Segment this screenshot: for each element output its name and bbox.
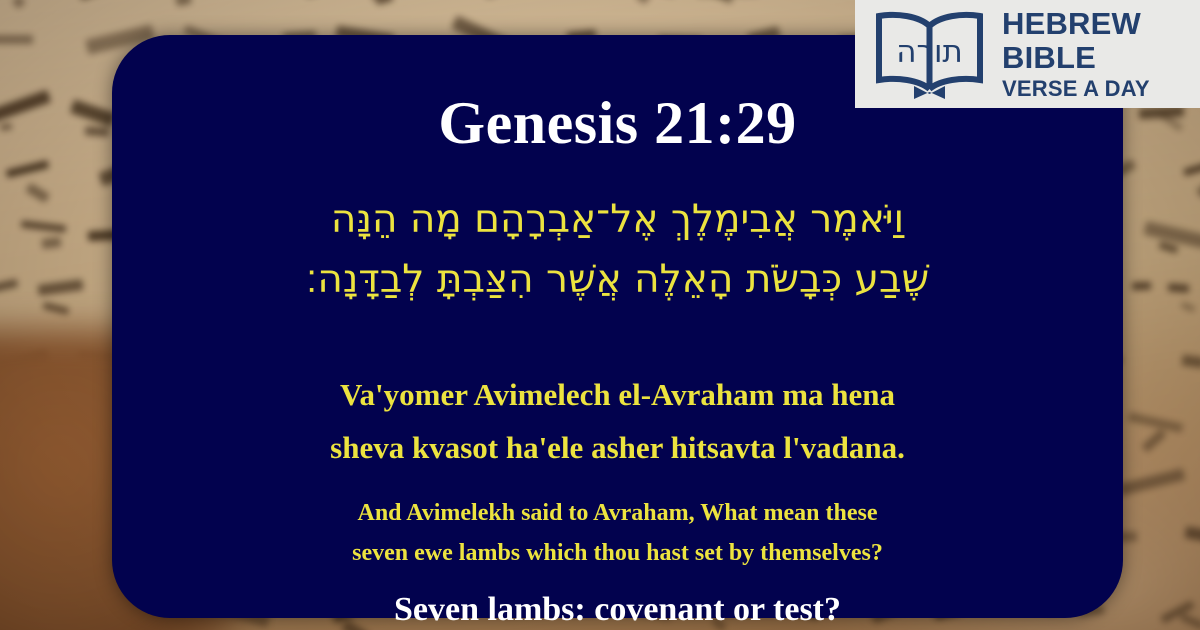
brand-line-3: VERSE A DAY — [1002, 78, 1150, 100]
verse-panel: Genesis 21:29 וַיֹּאמֶר אֲבִימֶלֶךְ אֶל־… — [112, 35, 1123, 618]
hebrew-line-1: וַיֹּאמֶר אֲבִימֶלֶךְ אֶל־אַבְרָהָם מָה … — [152, 190, 1083, 250]
brand-wordmark: HEBREW BIBLE VERSE A DAY — [1002, 8, 1150, 100]
brand-line-2: BIBLE — [1002, 42, 1150, 73]
transliteration: Va'yomer Avimelech el-Avraham ma hena sh… — [152, 368, 1083, 475]
transliteration-line-2: sheva kvasot ha'ele asher hitsavta l'vad… — [152, 421, 1083, 474]
english-translation: And Avimelekh said to Avraham, What mean… — [162, 493, 1073, 574]
brand-line-1: HEBREW — [1002, 8, 1150, 39]
open-book-torah-icon: תורה — [867, 6, 992, 102]
headline: Seven lambs: covenant or test? — [152, 591, 1083, 628]
english-line-1: And Avimelekh said to Avraham, What mean… — [162, 493, 1073, 533]
verse-card: Genesis 21:29 וַיֹּאמֶר אֲבִימֶלֶךְ אֶל־… — [0, 0, 1200, 630]
brand-logo[interactable]: תורה HEBREW BIBLE VERSE A DAY — [855, 0, 1200, 108]
hebrew-line-2: שֶׁבַע כְּבָשֹׂת הָאֵלֶּה אֲשֶׁר הִצַּבְ… — [152, 250, 1083, 310]
torah-glyph: תורה — [896, 34, 963, 70]
english-line-2: seven ewe lambs which thou hast set by t… — [162, 533, 1073, 573]
hebrew-verse: וַיֹּאמֶר אֲבִימֶלֶךְ אֶל־אַבְרָהָם מָה … — [152, 190, 1083, 311]
transliteration-line-1: Va'yomer Avimelech el-Avraham ma hena — [152, 368, 1083, 421]
